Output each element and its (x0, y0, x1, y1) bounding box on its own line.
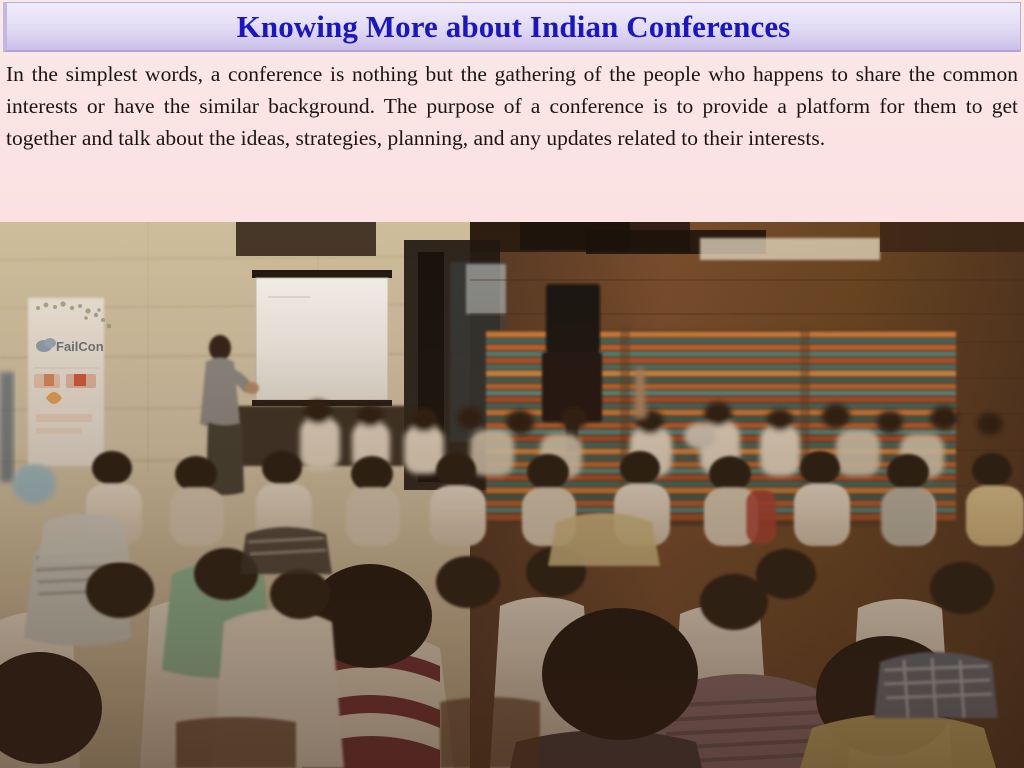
slide-title-bar: Knowing More about Indian Conferences (3, 2, 1021, 52)
photo-illustration: FailCon (0, 222, 1024, 768)
page-title: Knowing More about Indian Conferences (237, 11, 791, 42)
body-paragraph: In the simplest words, a conference is n… (6, 58, 1018, 154)
slide-canvas: Knowing More about Indian Conferences In… (0, 0, 1024, 768)
conference-audience-photo: FailCon (0, 222, 1024, 768)
